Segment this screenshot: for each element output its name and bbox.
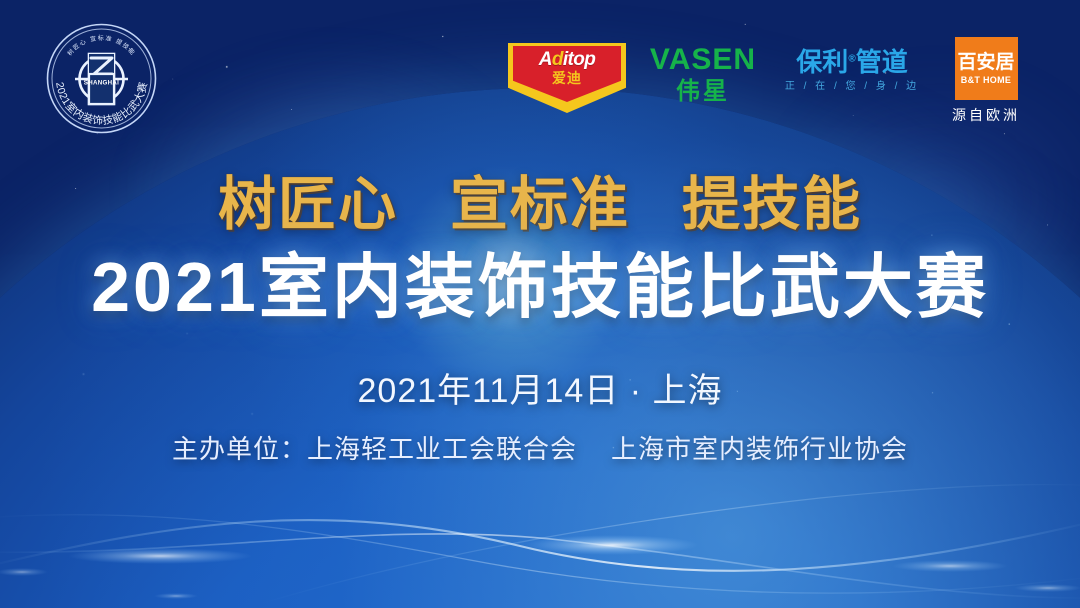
tagline-part-2: 宣标准 <box>450 172 630 237</box>
sponsor-logo-poly-pipe: 保利®管道 正 / 在 / 您 / 身 / 边 <box>778 49 926 92</box>
aditop-shield-shape: Aditop 爱迪 <box>508 43 626 113</box>
poly-pipe-name: 保利®管道 <box>778 49 926 75</box>
sponsor-logo-aditop: Aditop 爱迪 <box>508 43 628 113</box>
event-main-title: 2021室内装饰技能比武大赛 <box>0 252 1080 322</box>
event-poster: SHANGHAI 树匠心 宣标准 提技能 2021室内装饰技能比武大赛 Adit… <box>0 0 1080 608</box>
organizer-secondary: 上海市室内装饰行业协会 <box>611 434 908 464</box>
tagline-part-3: 提技能 <box>682 172 862 237</box>
vasen-english-name: VASEN <box>628 45 778 75</box>
emblem-graphic: SHANGHAI 树匠心 宣标准 提技能 2021室内装饰技能比武大赛 <box>45 22 158 135</box>
bt-home-chinese-name: 百安居 <box>957 53 1014 72</box>
event-datetime-location: 2021年11月14日 · 上海 <box>0 371 1080 412</box>
tagline-part-1: 树匠心 <box>218 172 398 237</box>
sponsor-logo-row: Aditop 爱迪 VASEN 伟星 保利®管道 正 / 在 / 您 / 身 /… <box>508 27 1070 133</box>
aditop-shield-inner: Aditop 爱迪 <box>513 46 621 102</box>
event-tagline: 树匠心宣标准提技能 <box>0 176 1080 234</box>
organizer-primary: 主办单位：上海轻工业工会联合会 <box>172 434 577 464</box>
event-organizers: 主办单位：上海轻工业工会联合会上海市室内装饰行业协会 <box>0 434 1080 465</box>
emblem-center-text: SHANGHAI <box>84 80 119 87</box>
aditop-chinese-name: 爱迪 <box>552 71 582 85</box>
bt-home-tagline: 源自欧洲 <box>926 108 1046 122</box>
aditop-english-name: Aditop <box>539 50 596 69</box>
bt-home-english-name: B&T HOME <box>961 76 1011 85</box>
sponsor-logo-vasen: VASEN 伟星 <box>628 45 778 104</box>
bt-home-logo-box: 百安居 B&T HOME <box>955 37 1018 100</box>
sponsor-logo-bt-home: 百安居 B&T HOME 源自欧洲 <box>926 37 1046 122</box>
poly-pipe-tagline: 正 / 在 / 您 / 身 / 边 <box>778 82 926 92</box>
vasen-chinese-name: 伟星 <box>628 80 778 104</box>
event-emblem: SHANGHAI 树匠心 宣标准 提技能 2021室内装饰技能比武大赛 <box>45 22 158 135</box>
